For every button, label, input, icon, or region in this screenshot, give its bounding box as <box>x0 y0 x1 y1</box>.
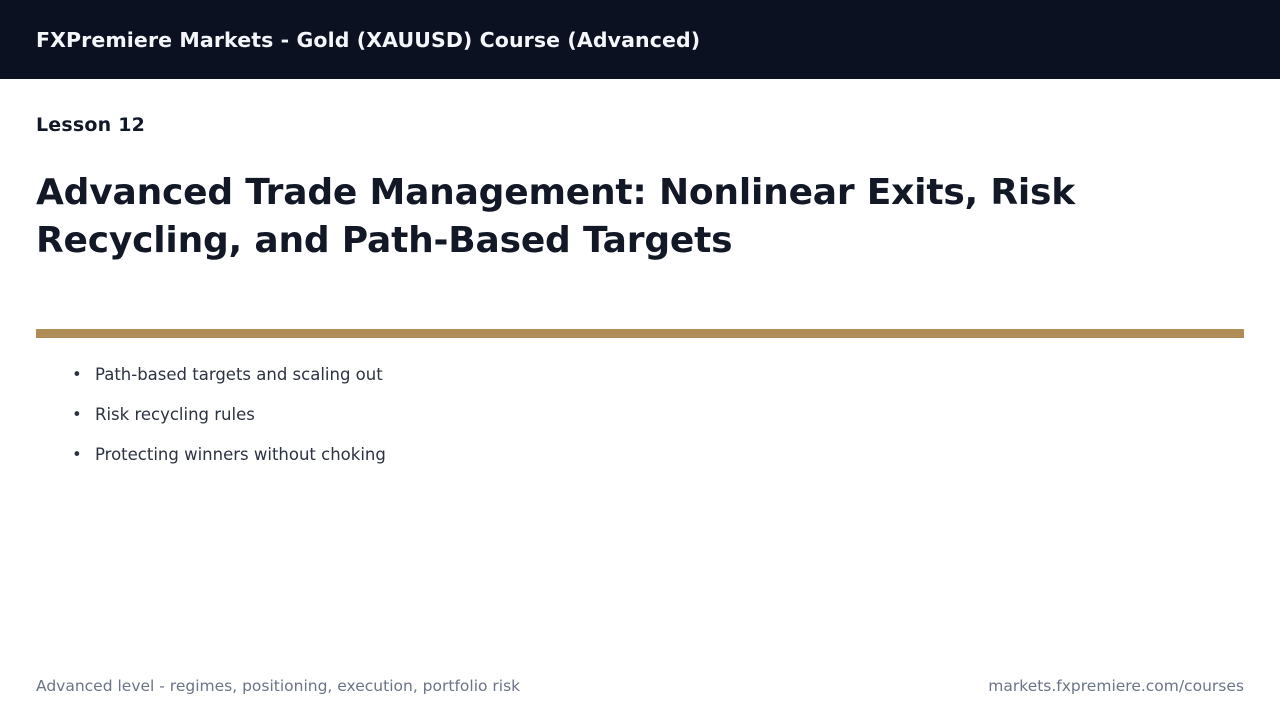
slide-title-line-1: Advanced Trade Management: Nonlinear Exi… <box>36 172 1075 213</box>
lesson-slide: FXPremiere Markets - Gold (XAUUSD) Cours… <box>0 0 1280 720</box>
list-item: • Protecting winners without choking <box>36 435 1196 475</box>
bullet-dot-icon: • <box>72 435 82 475</box>
slide-title: Advanced Trade Management: Nonlinear Exi… <box>36 169 1176 265</box>
bullet-dot-icon: • <box>72 395 82 435</box>
footer-site-url: markets.fxpremiere.com/courses <box>988 677 1244 695</box>
lesson-number-label: Lesson 12 <box>36 114 145 136</box>
slide-content: Lesson 12 Advanced Trade Management: Non… <box>36 79 1244 720</box>
objectives-list: • Path-based targets and scaling out • R… <box>36 355 1196 475</box>
slide-footer: Advanced level - regimes, positioning, e… <box>36 673 1244 699</box>
course-title: FXPremiere Markets - Gold (XAUUSD) Cours… <box>36 28 700 52</box>
list-item-label: Protecting winners without choking <box>95 445 386 464</box>
list-item-label: Risk recycling rules <box>95 405 255 424</box>
slide-title-line-2: Recycling, and Path-Based Targets <box>36 220 732 261</box>
header-bar: FXPremiere Markets - Gold (XAUUSD) Cours… <box>0 0 1280 79</box>
list-item: • Path-based targets and scaling out <box>36 355 1196 395</box>
list-item: • Risk recycling rules <box>36 395 1196 435</box>
bullet-dot-icon: • <box>72 355 82 395</box>
gold-divider <box>36 329 1244 338</box>
list-item-label: Path-based targets and scaling out <box>95 365 383 384</box>
footer-level-note: Advanced level - regimes, positioning, e… <box>36 677 520 695</box>
